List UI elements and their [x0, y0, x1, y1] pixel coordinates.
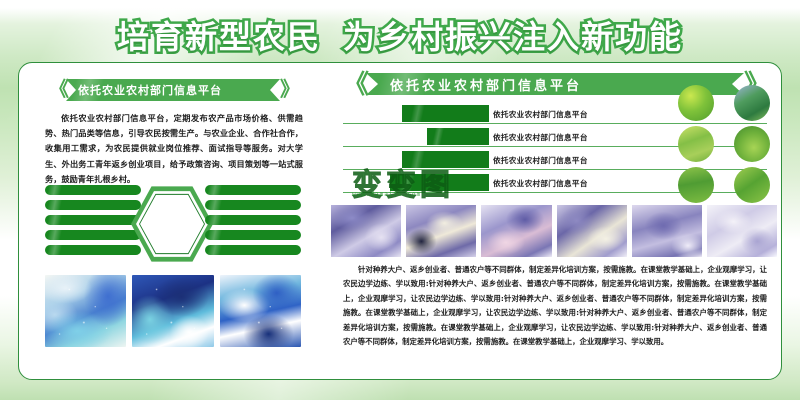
pill-item	[45, 185, 141, 195]
chart-bar-label: 依托农业农村部门信息平台	[493, 155, 588, 166]
right-panel-body-text: 针对种养大户、返乡创业者、普通农户等不同群体，制定差异化培训方案，按需施教。在课…	[343, 263, 767, 350]
pill-column-left	[45, 185, 141, 255]
pill-item	[205, 200, 301, 210]
pill-item	[205, 245, 301, 255]
left-header-title: 依托农业农村部门信息平台	[66, 82, 222, 98]
circle-photo-grid	[673, 85, 775, 203]
grass-circle-2	[734, 85, 770, 121]
chart-bar	[427, 128, 489, 145]
poster-canvas: 培育新型农民 为乡村振兴注入新功能 《 依托农业农村部门信息平台 》 依托农业农…	[0, 0, 800, 400]
pill-hexagon-group	[19, 185, 325, 265]
chart-bar-label: 依托农业农村部门信息平台	[493, 109, 588, 120]
purple-abstract-3	[481, 205, 551, 257]
pill-item	[45, 245, 141, 255]
purple-photo-strip	[325, 205, 782, 257]
headline-part-2: 为乡村振兴注入新功能	[343, 12, 683, 58]
star-speckles	[45, 275, 126, 347]
chart-bar-label: 依托农业农村部门信息平台	[493, 132, 588, 143]
left-header-bar: 依托农业农村部门信息平台	[66, 79, 280, 101]
chart-bar	[402, 151, 489, 168]
grass-circle-6	[734, 167, 770, 203]
chevron-left-icon: 《	[49, 80, 66, 100]
chart-bar	[402, 105, 489, 122]
purple-abstract-5	[632, 205, 702, 257]
chevron-left-icon: 《	[343, 71, 366, 97]
chart-bar	[390, 174, 489, 191]
grass-circle-5	[678, 167, 714, 203]
headline-part-1: 培育新型农民	[117, 12, 321, 58]
right-panel: 《 依托农业农村部门信息平台 》 依托农业农村部门信息平台 依托农业农村部门信息…	[325, 63, 782, 380]
star-speckles	[220, 275, 301, 347]
pill-column-right	[205, 185, 301, 255]
blue-marble-photo-3	[220, 275, 301, 347]
pill-item	[205, 215, 301, 225]
grass-circle-1	[678, 85, 714, 121]
chart-bar-label: 依托农业农村部门信息平台	[493, 178, 588, 189]
blue-marble-photo-1	[45, 275, 126, 347]
grass-circle-3	[678, 126, 714, 162]
poster-headline: 培育新型农民 为乡村振兴注入新功能	[0, 12, 800, 58]
purple-abstract-2	[406, 205, 476, 257]
left-panel-header: 《 依托农业农村部门信息平台 》	[49, 79, 297, 101]
pill-item	[205, 185, 301, 195]
pill-item	[45, 230, 141, 240]
blue-marble-photo-2	[132, 275, 213, 347]
left-panel: 《 依托农业农村部门信息平台 》 依托农业农村部门信息平台，定期发布农产品市场价…	[19, 63, 325, 380]
left-panel-body-text: 依托农业农村部门信息平台，定期发布农产品市场价格、供需趋势、热门品类等信息，引导…	[45, 111, 303, 187]
star-speckles	[132, 275, 213, 347]
purple-abstract-4	[557, 205, 627, 257]
chevron-right-icon: 》	[280, 80, 297, 100]
pill-item	[205, 230, 301, 240]
hexagon-graphic	[131, 184, 213, 264]
pill-item	[45, 200, 141, 210]
right-header-title: 依托农业农村部门信息平台	[366, 75, 582, 94]
left-photo-strip	[45, 275, 301, 347]
pill-item	[45, 215, 141, 225]
purple-abstract-6	[707, 205, 777, 257]
grass-circle-4	[734, 126, 770, 162]
purple-abstract-1	[331, 205, 401, 257]
content-card: 《 依托农业农村部门信息平台 》 依托农业农村部门信息平台，定期发布农产品市场价…	[18, 62, 782, 380]
